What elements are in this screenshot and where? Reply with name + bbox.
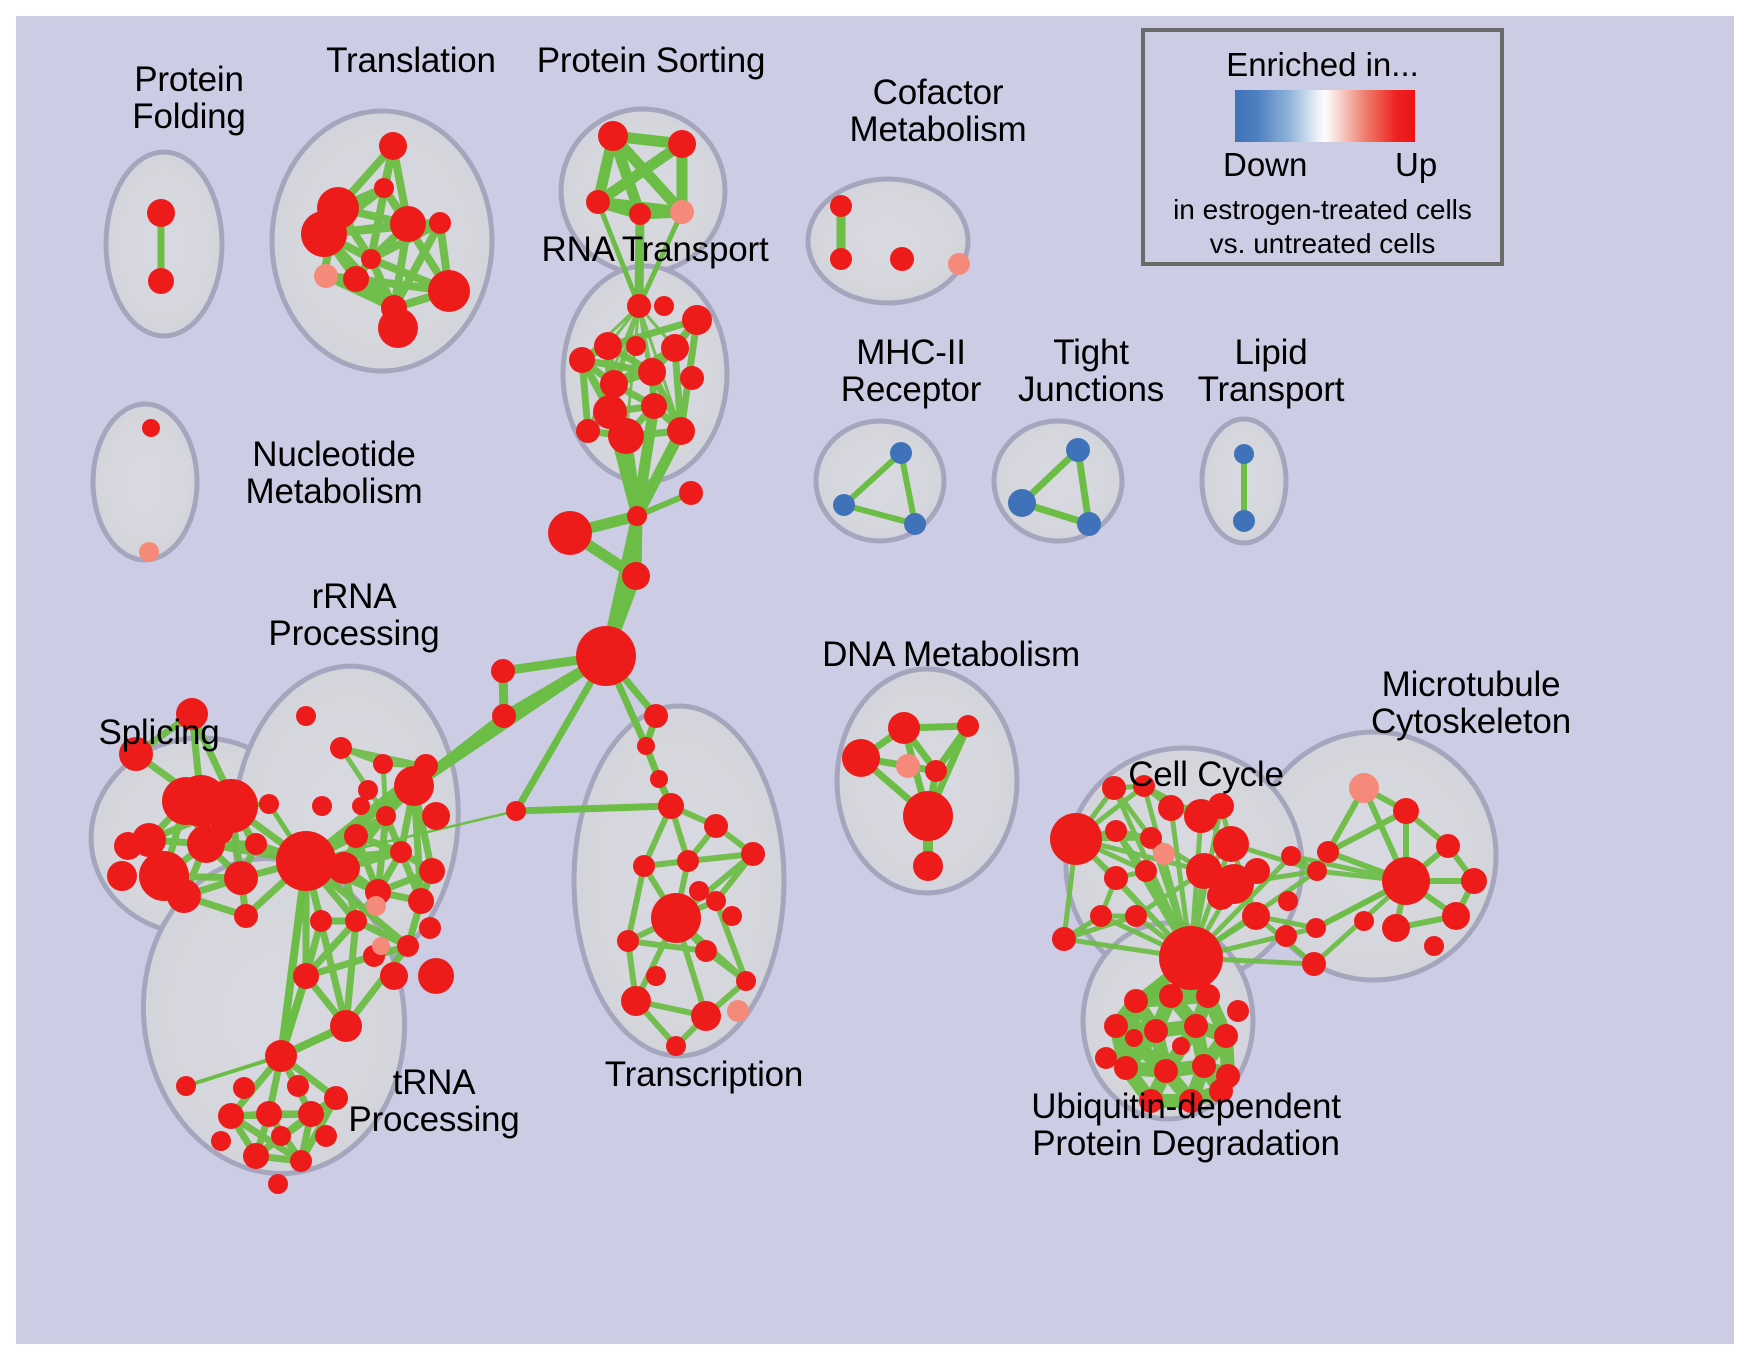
- legend-subtitle-line1: in estrogen-treated cells: [1145, 194, 1500, 226]
- network-canvas: Protein Folding Translation Protein Sort…: [16, 16, 1734, 1344]
- legend-down-label: Down: [1223, 146, 1307, 184]
- legend-color-gradient-bar: [1235, 90, 1415, 142]
- legend-title: Enriched in...: [1145, 46, 1500, 84]
- enrichment-network-figure: Protein Folding Translation Protein Sort…: [0, 0, 1750, 1360]
- color-legend: Enriched in... Down Up in estrogen-treat…: [1141, 28, 1504, 266]
- halo-cofactor: [808, 179, 968, 303]
- legend-subtitle-line2: vs. untreated cells: [1145, 228, 1500, 260]
- halo-transcription: [574, 706, 784, 1056]
- halo-tight: [994, 421, 1122, 541]
- legend-up-label: Up: [1395, 146, 1437, 184]
